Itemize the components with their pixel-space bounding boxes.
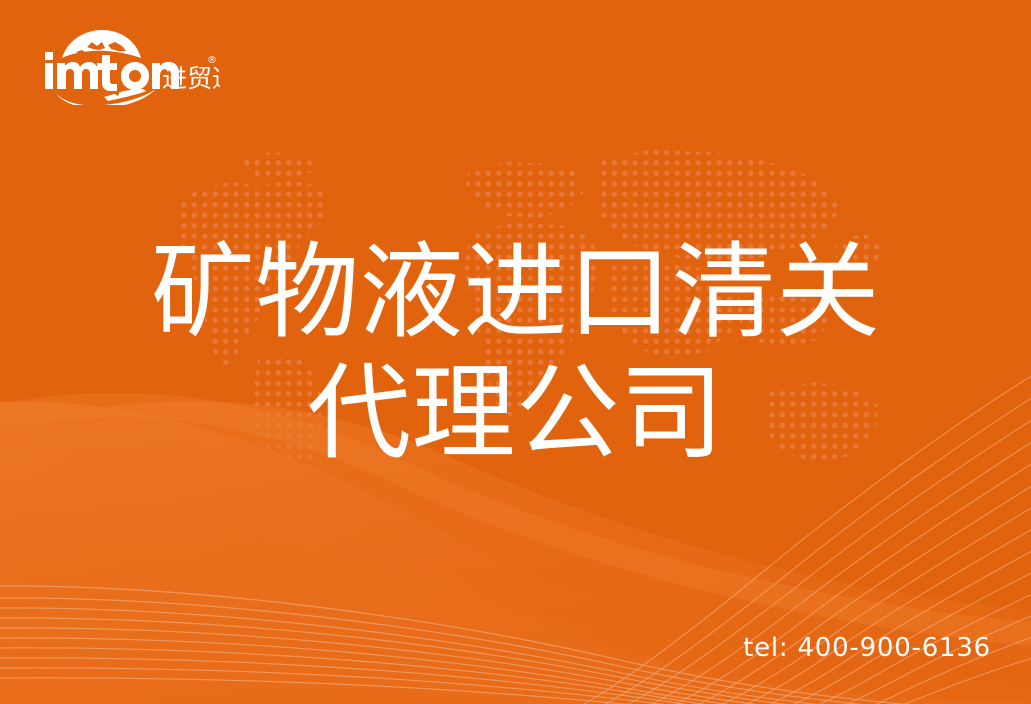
globe-dome-icon [62,30,141,58]
promo-banner: 进贸通 ® 矿物液进口清关 代理公司 tel: 400-900-6136 [0,0,1031,704]
registered-trademark-icon: ® [207,55,217,66]
headline-line-1: 矿物液进口清关 [0,232,1031,353]
imton-wordmark [45,52,179,91]
page-title: 矿物液进口清关 代理公司 [0,232,1031,473]
logo-chinese-name: 进贸通 [162,64,220,93]
headline-line-2: 代理公司 [0,353,1031,474]
swoosh-arrow-icon [56,89,156,105]
contact-phone[interactable]: tel: 400-900-6136 [743,633,991,663]
brand-logo[interactable]: 进贸通 ® [40,27,220,105]
